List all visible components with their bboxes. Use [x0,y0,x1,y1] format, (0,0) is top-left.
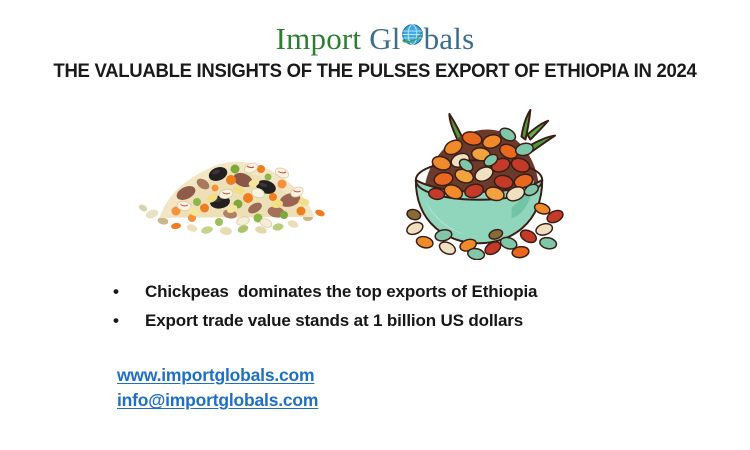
brand-logo[interactable]: Import Gl bals [0,18,750,60]
logo-word-import: Import [276,21,362,56]
page-title: THE VALUABLE INSIGHTS OF THE PULSES EXPO… [19,60,732,83]
email-link[interactable]: info@importglobals.com [117,388,318,413]
bullet-marker-icon: • [113,281,145,304]
bullet-marker-icon: • [113,310,145,333]
pulses-bowl-image [393,102,568,260]
globe-icon [401,23,424,46]
logo-word-globals-suffix: bals [424,21,475,56]
website-link[interactable]: www.importglobals.com [117,363,314,388]
list-item-label: Export trade value stands at 1 billion U… [145,310,523,333]
artwork-row [0,100,750,260]
mixed-pulses-pile-image [132,138,337,238]
contact-links: www.importglobals.com info@importglobals… [117,363,318,414]
list-item-label: Chickpeas dominates the top exports of E… [145,281,537,304]
list-item: • Export trade value stands at 1 billion… [113,310,713,333]
list-item: • Chickpeas dominates the top exports of… [113,281,713,304]
logo-word-globals-prefix: Gl [369,21,400,56]
infographic-poster: Import Gl bals THE VALUABLE INSIGHTS OF … [0,0,750,450]
key-insights-list: • Chickpeas dominates the top exports of… [113,281,713,339]
